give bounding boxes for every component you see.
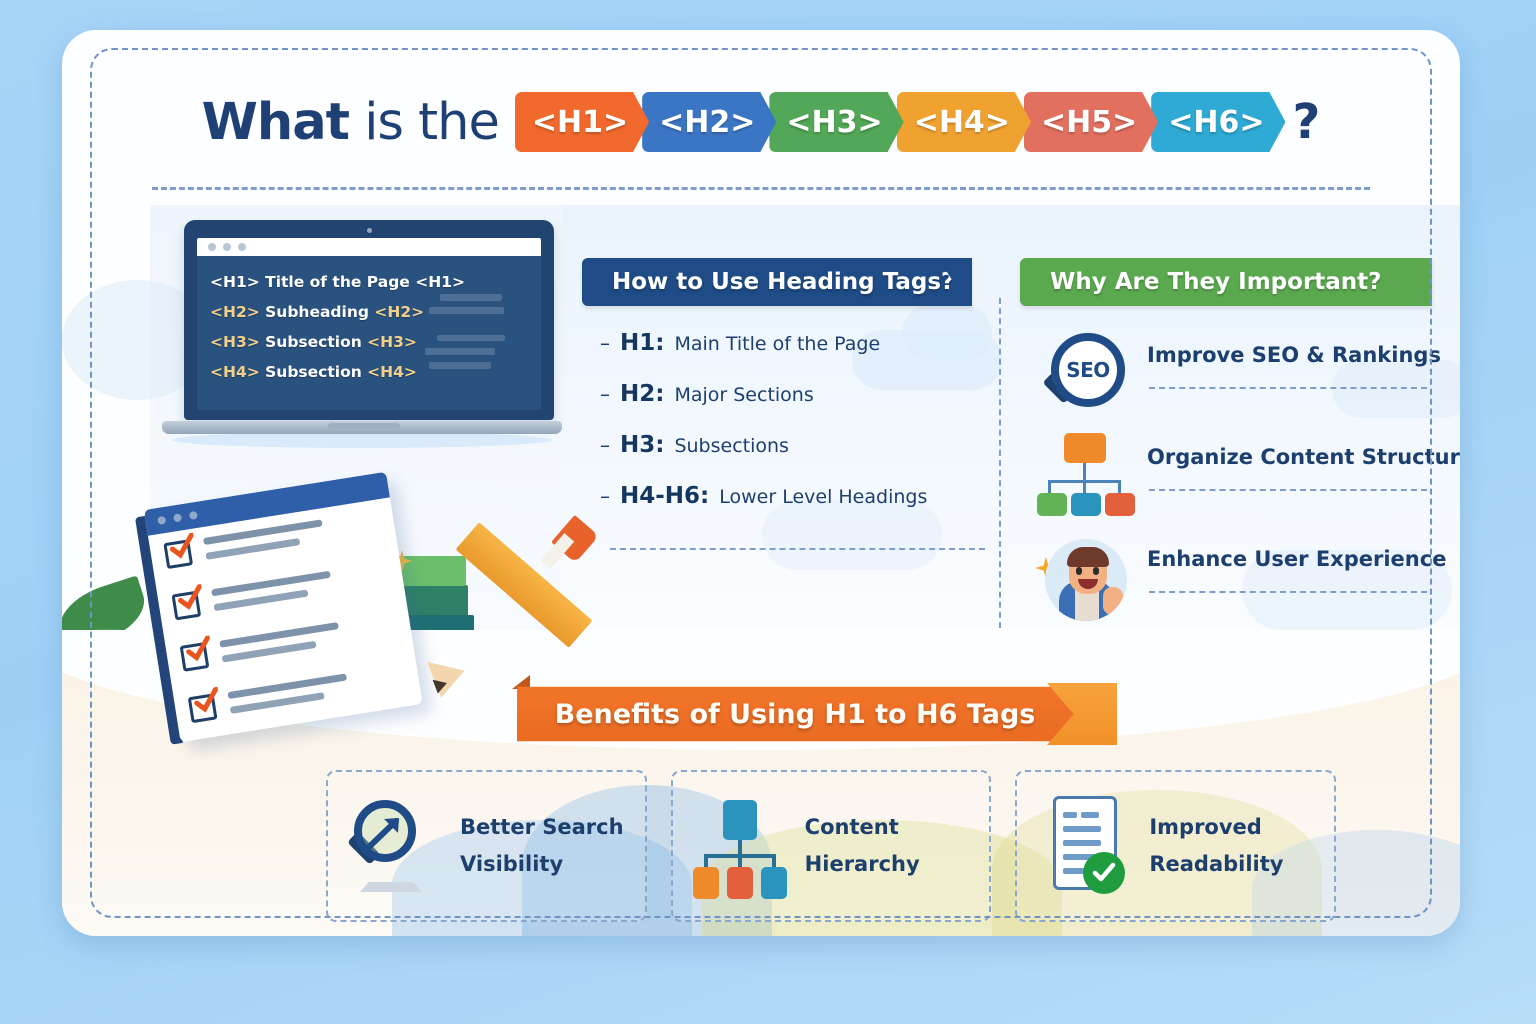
how-list-item-key: H3: <box>620 432 664 458</box>
why-section-list: SEO Improve SEO & Rankings Organize Cont… <box>1037 325 1437 631</box>
heading-tag-badge-h6[interactable]: <H6> <box>1151 92 1285 152</box>
benefit-card-improved-readability[interactable]: Improved Readability <box>1015 770 1336 922</box>
page-title-text: What is the <box>202 93 499 152</box>
hierarchy-node-child <box>727 867 753 899</box>
check-icon <box>1091 860 1117 886</box>
sitemap-node-child <box>1037 493 1067 516</box>
code-close-tag: <H1> <box>415 273 465 291</box>
how-section-list: –H1:Main Title of the Page–H2:Major Sect… <box>600 330 1000 534</box>
code-text: Subheading <box>260 303 375 321</box>
seo-icon-label: SEO <box>1066 358 1110 382</box>
code-stub <box>440 294 502 301</box>
heading-tag-badge-h5[interactable]: <H5> <box>1024 92 1158 152</box>
browser-dot <box>238 243 246 251</box>
heading-tag-badge-h4[interactable]: <H4> <box>897 92 1031 152</box>
how-list-item: –H4-H6:Lower Level Headings <box>600 483 1000 509</box>
laptop-shadow <box>172 432 552 448</box>
why-item: Enhance User Experience <box>1037 529 1437 631</box>
success-check-badge <box>1083 852 1125 894</box>
infographic-card: What is the <H1><H2><H3><H4><H5><H6> ? <… <box>62 30 1460 936</box>
code-text: Subsection <box>260 333 367 351</box>
code-open-tag: <H3> <box>210 333 260 351</box>
avatar-eye <box>1093 567 1099 575</box>
why-section-heading-label: Why Are They Important? <box>1050 269 1382 295</box>
list-bullet-dash: – <box>600 484 610 508</box>
heading-tag-badge-h3[interactable]: <H3> <box>769 92 903 152</box>
happy-user-icon <box>1037 529 1135 627</box>
avatar-eye <box>1076 567 1082 575</box>
code-open-tag: <H4> <box>210 363 260 381</box>
how-section-heading: How to Use Heading Tags? <box>582 258 972 306</box>
title-word-rest: is the <box>349 93 499 152</box>
code-close-tag: <H4> <box>367 363 417 381</box>
code-line-1: <H1> Title of the Page <H1> <box>210 267 541 297</box>
checklist-dot <box>173 513 182 522</box>
checklist-dot <box>189 511 198 520</box>
sitemap-connector <box>1118 480 1121 494</box>
browser-dot <box>223 243 231 251</box>
avatar <box>1045 539 1127 621</box>
code-stub <box>429 362 491 369</box>
check-icon <box>192 687 222 717</box>
hierarchy-node-parent <box>723 800 757 840</box>
how-list-item-key: H1: <box>620 330 664 356</box>
checklist-card <box>144 472 423 742</box>
sitemap-connector <box>1083 463 1086 481</box>
how-list-item-key: H2: <box>620 381 664 407</box>
growth-arrow-icon <box>366 812 406 852</box>
hierarchy-connector <box>704 854 708 868</box>
how-list-item-value: Major Sections <box>674 384 813 406</box>
how-list-item-value: Subsections <box>674 435 789 457</box>
page-title: What is the <H1><H2><H3><H4><H5><H6> ? <box>62 92 1460 152</box>
code-text: Subsection <box>260 363 367 381</box>
benefit-card-list: Better Search Visibility Content Hierarc… <box>326 770 1336 922</box>
document-text-line <box>1063 812 1077 818</box>
why-item-label: Improve SEO & Rankings <box>1147 343 1441 367</box>
code-stub <box>429 307 504 314</box>
document-text-line <box>1081 812 1099 818</box>
list-bullet-dash: – <box>600 433 610 457</box>
hierarchy-node-child <box>693 867 719 899</box>
why-item-rule <box>1149 591 1427 593</box>
check-icon <box>184 635 214 665</box>
benefit-card-label: Improved Readability <box>1149 809 1283 883</box>
code-open-tag: <H1> <box>210 273 260 291</box>
avatar-hair <box>1067 547 1109 567</box>
benefit-card-line1: Better Search <box>460 809 624 846</box>
laptop-trackpad-notch <box>328 423 400 429</box>
benefit-card-content-hierarchy[interactable]: Content Hierarchy <box>671 770 992 922</box>
code-line-4: <H4> Subsection <H4> <box>210 357 541 387</box>
why-item: Organize Content Structure <box>1037 427 1437 529</box>
code-open-tag: <H2> <box>210 303 260 321</box>
title-question-mark: ? <box>1292 94 1320 150</box>
benefit-card-label: Content Hierarchy <box>805 809 920 883</box>
list-bullet-dash: – <box>600 331 610 355</box>
why-item: SEO Improve SEO & Rankings <box>1037 325 1437 427</box>
browser-bar <box>197 238 541 256</box>
title-divider <box>152 187 1370 190</box>
check-icon <box>175 584 205 614</box>
magnifier-stand <box>360 882 422 892</box>
benefits-ribbon: Benefits of Using H1 to H6 Tags <box>517 683 1117 745</box>
heading-tag-badge-h2[interactable]: <H2> <box>642 92 776 152</box>
how-list-item: –H3:Subsections <box>600 432 1000 458</box>
improved-readability-icon <box>1035 790 1135 902</box>
title-word-bold: What <box>202 93 349 152</box>
how-list-item: –H1:Main Title of the Page <box>600 330 1000 356</box>
check-icon <box>167 533 197 563</box>
code-close-tag: <H3> <box>367 333 417 351</box>
benefit-card-line1: Improved <box>1149 809 1283 846</box>
hierarchy-connector <box>772 854 776 868</box>
sitemap-node-child <box>1105 493 1135 516</box>
search-visibility-icon <box>346 790 446 902</box>
how-section-divider <box>610 548 985 550</box>
magnifier-lens-icon: SEO <box>1051 333 1125 407</box>
how-list-item: –H2:Major Sections <box>600 381 1000 407</box>
code-stub <box>425 348 495 355</box>
why-item-label: Enhance User Experience <box>1147 547 1446 571</box>
code-stub <box>437 335 505 341</box>
avatar-thumbs-up-icon <box>1103 587 1123 615</box>
list-bullet-dash: – <box>600 382 610 406</box>
pencil-illustration <box>417 525 607 715</box>
hierarchy-connector <box>738 854 742 868</box>
why-item-label: Organize Content Structure <box>1147 445 1460 469</box>
sitemap-node-child <box>1071 493 1101 516</box>
sitemap-icon <box>1037 427 1135 525</box>
code-close-tag: <H2> <box>374 303 424 321</box>
how-section-heading-label: How to Use Heading Tags? <box>612 269 954 295</box>
why-item-rule <box>1149 489 1427 491</box>
why-item-rule <box>1149 387 1427 389</box>
browser-dot <box>208 243 216 251</box>
sitemap-connector <box>1083 480 1086 494</box>
column-divider <box>999 298 1001 628</box>
benefit-card-better-search-visibility[interactable]: Better Search Visibility <box>326 770 647 922</box>
sitemap-node-parent <box>1064 433 1106 463</box>
how-list-item-key: H4-H6: <box>620 483 709 509</box>
laptop-camera-icon <box>367 228 372 233</box>
how-list-item-value: Lower Level Headings <box>719 486 927 508</box>
hierarchy-node-child <box>761 867 787 899</box>
benefit-card-line2: Hierarchy <box>805 846 920 883</box>
laptop-screen: <H1> Title of the Page <H1><H2> Subheadi… <box>197 238 541 410</box>
benefit-card-label: Better Search Visibility <box>460 809 624 883</box>
how-list-item-value: Main Title of the Page <box>674 333 880 355</box>
document-text-line <box>1063 826 1101 832</box>
benefit-card-line2: Readability <box>1149 846 1283 883</box>
content-hierarchy-icon <box>691 790 791 902</box>
benefit-card-line2: Visibility <box>460 846 624 883</box>
heading-tag-badge-group: <H1><H2><H3><H4><H5><H6> <box>515 92 1279 152</box>
checklist-dot <box>157 516 166 525</box>
benefits-ribbon-label: Benefits of Using H1 to H6 Tags <box>555 699 1036 730</box>
why-section-heading: Why Are They Important? <box>1020 258 1432 306</box>
sitemap-connector <box>1048 480 1051 494</box>
benefit-card-line1: Content <box>805 809 920 846</box>
heading-tag-badge-h1[interactable]: <H1> <box>515 92 649 152</box>
code-text: Title of the Page <box>260 273 415 291</box>
laptop-lid: <H1> Title of the Page <H1><H2> Subheadi… <box>184 220 554 420</box>
document-text-line <box>1063 840 1101 846</box>
seo-magnifier-icon: SEO <box>1037 325 1135 423</box>
laptop-illustration: <H1> Title of the Page <H1><H2> Subheadi… <box>162 220 562 460</box>
